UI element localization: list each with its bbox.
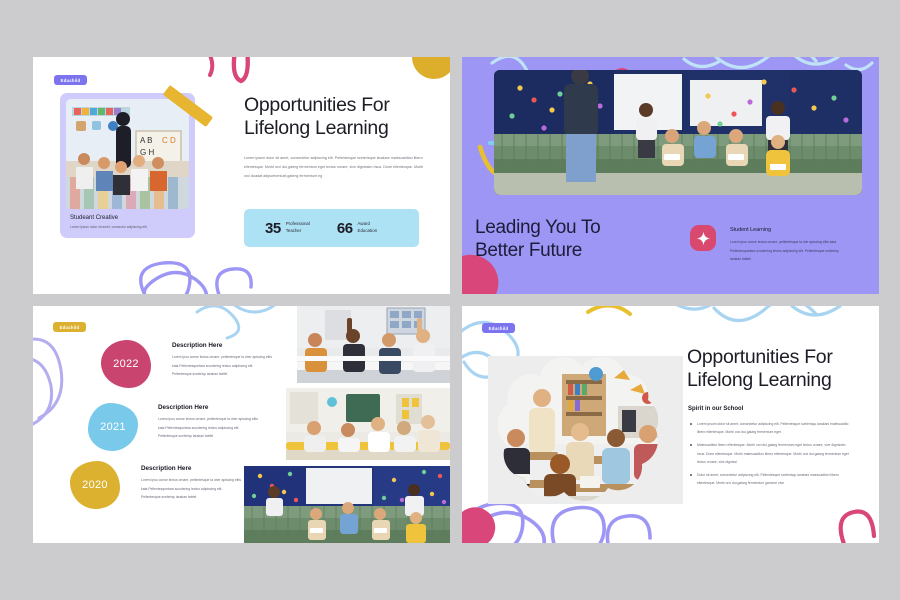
cloud-masked-classroom-photo [488, 356, 683, 504]
slide-1-title-line-1: Opportunities For [244, 94, 390, 117]
list-item: Dolor sit amet, consectetur adipiscing e… [688, 471, 853, 488]
slide-4-spirit[interactable]: Educhild [462, 306, 879, 543]
brand-badge[interactable]: Educhild [54, 75, 87, 85]
stat-number: 35 [265, 220, 281, 237]
slide-1-title-line-2: Lifelong Learning [244, 117, 390, 140]
timeline-heading: Description Here [158, 404, 208, 411]
timeline-heading: Description Here [172, 342, 222, 349]
brand-badge[interactable]: Educhild [482, 323, 515, 333]
stats-panel: 35 Professional Teacher 66 Award Educati… [244, 209, 419, 247]
card-caption-text: Lorem ipsum dolor sit amet, consectur ad… [70, 225, 185, 229]
student-creative-card[interactable]: A B C D G H [60, 93, 195, 238]
brand-badge[interactable]: Educhild [53, 322, 86, 332]
classroom-photo: A B C D G H [66, 99, 189, 209]
timeline-year-blob[interactable]: 2020 [70, 461, 120, 509]
slide-1-paragraph: Lorem ipsum dolor sit amet, consectetur … [244, 154, 424, 180]
classroom-yellow-desk-photo [286, 388, 450, 460]
svg-text:A B: A B [140, 136, 152, 145]
stat-item: 66 Award Education [337, 220, 377, 237]
card-caption-title: Studeant Creative [70, 215, 118, 221]
slide-1-cover[interactable]: Educhild A B [33, 57, 450, 294]
timeline-text: Lorem ipsu conse lectus ornare, pellente… [172, 353, 273, 379]
timeline-heading: Description Here [141, 465, 191, 472]
bullet-list: Lorem ipsum dolor sit amet, consectetur … [688, 420, 853, 492]
feature-text: Lorem ipsu conse lectus ornare, pellente… [730, 238, 850, 264]
slide-4-title-line-1: Opportunities For [687, 346, 877, 369]
timeline-text: Lorem ipsu conse lectus ornare, pellente… [141, 476, 242, 502]
feature-title: Student Learning [730, 227, 771, 233]
slide-2-title-line-1: Leading You To [475, 217, 600, 240]
classroom-hands-up-photo [297, 306, 450, 383]
slide-3-timeline[interactable]: Educhild 2022 Description Here Lorem ips… [33, 306, 450, 543]
classroom-steps-photo [244, 466, 450, 543]
stat-label: Award Education [358, 221, 378, 234]
stat-label: Professional Teacher [286, 221, 310, 234]
list-item: Lorem ipsum dolor sit amet, consectetur … [688, 420, 853, 437]
slide-2-leading[interactable]: Leading You To Better Future Student Lea… [462, 57, 879, 294]
star-glyph [696, 231, 711, 246]
presentation-preview-board: Educhild A B [0, 0, 900, 600]
timeline-year-blob[interactable]: 2022 [101, 340, 151, 388]
classroom-steps-photo [494, 70, 862, 195]
timeline-year-blob[interactable]: 2021 [88, 403, 138, 451]
list-item: Malesuadtion libero ellentesque. Morbi o… [688, 441, 853, 466]
stat-number: 66 [337, 220, 353, 237]
svg-text:C D: C D [162, 136, 176, 145]
slide-2-title-line-2: Better Future [475, 240, 600, 263]
timeline-text: Lorem ipsu conse lectus ornare, pellente… [158, 415, 259, 441]
slide-4-subtitle: Spirit in our School [688, 406, 743, 412]
four-point-star-icon [690, 225, 716, 251]
teacher-figure [564, 70, 598, 182]
svg-text:G H: G H [140, 148, 154, 157]
stat-item: 35 Professional Teacher [265, 220, 310, 237]
slide-4-title-line-2: Lifelong Learning [687, 369, 877, 392]
